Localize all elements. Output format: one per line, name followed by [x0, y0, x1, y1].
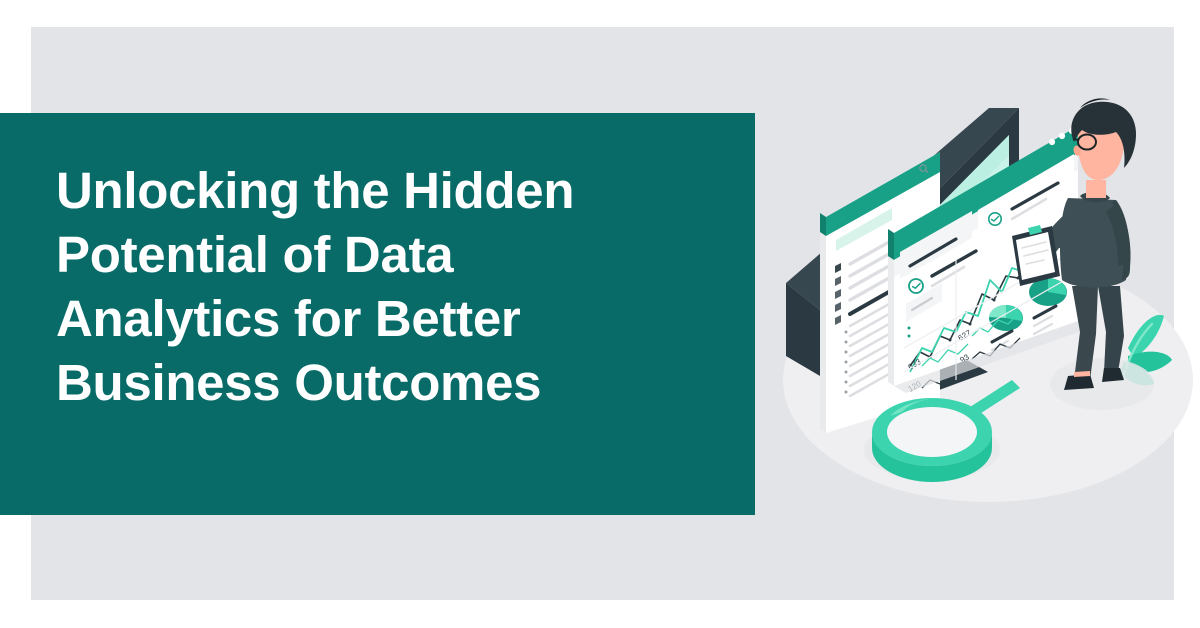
person-neck	[1086, 180, 1106, 198]
donut-chart-small	[989, 305, 1023, 331]
person-shoe-back	[1102, 368, 1124, 382]
window-dot-2	[1059, 133, 1065, 139]
window-titlebar-shade	[888, 229, 894, 260]
magnifier-lens	[887, 407, 977, 457]
hero-banner: Unlocking the Hidden Potential of Data A…	[0, 0, 1200, 628]
sidebar-sheet-edge	[820, 213, 826, 433]
window-body-edge	[888, 256, 894, 386]
person-ankle	[1074, 371, 1090, 377]
sidebar-topbar-shade	[820, 213, 826, 236]
headline-block: Unlocking the Hidden Potential of Data A…	[0, 113, 755, 515]
page-title: Unlocking the Hidden Potential of Data A…	[56, 159, 736, 415]
illustration-data-analytics: 627 633 93 120	[760, 80, 1200, 530]
window-dot-1	[1049, 139, 1055, 145]
person-shadow	[1050, 358, 1154, 410]
clipboard-paper	[1016, 232, 1055, 280]
